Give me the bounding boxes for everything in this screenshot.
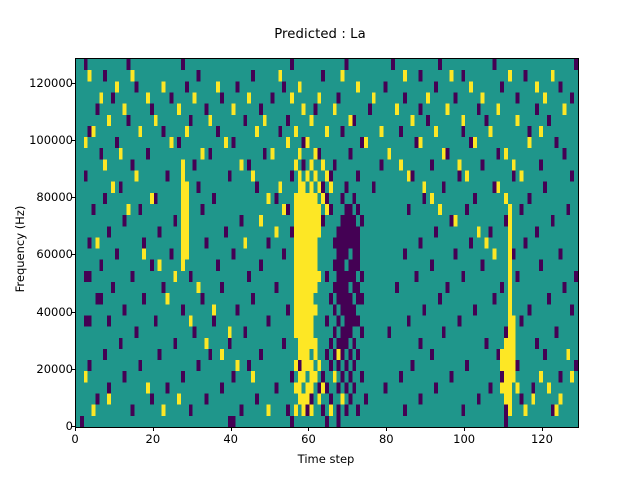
x-tick-mark: [75, 427, 76, 431]
heatmap-axes: [75, 58, 579, 428]
y-tick-label: 60000: [0, 247, 73, 261]
x-tick-mark: [464, 427, 465, 431]
y-tick-label: 120000: [0, 76, 73, 90]
x-tick-label: 100: [424, 432, 504, 446]
y-tick-label: 40000: [0, 305, 73, 319]
page-title: Predicted : La: [0, 27, 640, 42]
y-tick-label: 100000: [0, 133, 73, 147]
x-tick-mark: [308, 427, 309, 431]
x-tick-mark: [386, 427, 387, 431]
x-tick-label: 120: [502, 432, 582, 446]
matplotlib-figure: Predicted : La Frequency (Hz) 0200004000…: [0, 0, 640, 480]
y-tick-label: 20000: [0, 362, 73, 376]
x-axis-label: Time step: [75, 452, 577, 466]
x-tick-label: 80: [346, 432, 426, 446]
x-tick-mark: [153, 427, 154, 431]
x-tick-mark: [542, 427, 543, 431]
y-tick-label: 0: [0, 419, 73, 433]
heatmap-image: [76, 59, 578, 427]
x-tick-label: 20: [113, 432, 193, 446]
y-tick-label: 80000: [0, 190, 73, 204]
x-tick-label: 0: [35, 432, 115, 446]
x-tick-label: 60: [268, 432, 348, 446]
x-tick-label: 40: [191, 432, 271, 446]
x-tick-mark: [231, 427, 232, 431]
